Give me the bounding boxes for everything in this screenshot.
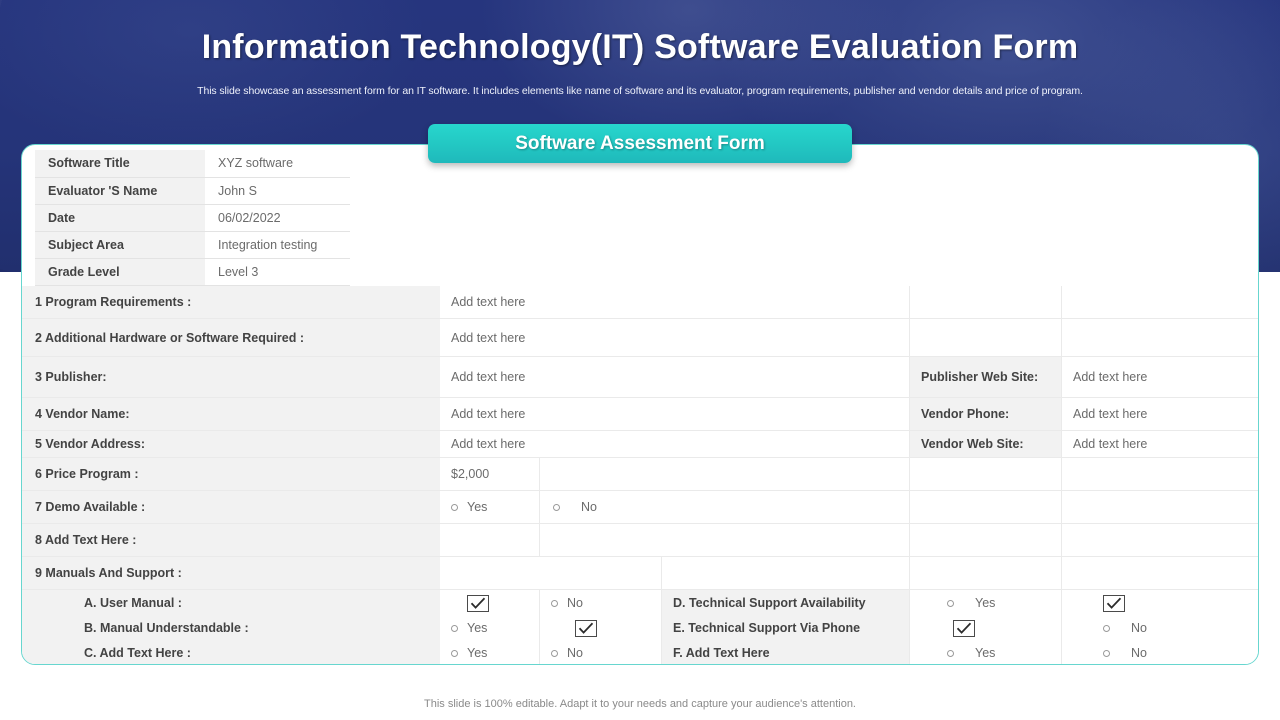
- radio-icon[interactable]: [551, 600, 558, 607]
- radio-icon[interactable]: [947, 650, 954, 657]
- table-row: Subject Area Integration testing: [35, 231, 350, 258]
- row-right-label-empty: [910, 458, 1062, 491]
- info-value[interactable]: XYZ software: [205, 150, 350, 177]
- row-right-value-vendor-phone[interactable]: Add text here: [1062, 398, 1259, 431]
- table-row: A. User Manual : No D. Technical Support…: [22, 590, 1259, 615]
- row-right-label-empty: [910, 319, 1062, 357]
- table-row: C. Add Text Here : Yes No F. Add Text He…: [22, 640, 1259, 665]
- option-label-yes: Yes: [467, 500, 487, 514]
- row-right-value-empty: [1062, 524, 1259, 557]
- row-value-additional-hardware[interactable]: Add text here: [440, 319, 910, 357]
- info-key: Date: [35, 204, 205, 231]
- manual-understandable-no-option[interactable]: [540, 615, 662, 642]
- option-label-yes: Yes: [467, 646, 487, 660]
- option-label-yes: Yes: [963, 646, 995, 660]
- checkbox-checked-icon[interactable]: [467, 595, 489, 612]
- banner-label: Software Assessment Form: [515, 133, 765, 155]
- table-row: Date 06/02/2022: [35, 204, 350, 231]
- row-right-label-empty: [910, 286, 1062, 319]
- info-key: Software Title: [35, 150, 205, 177]
- row-9-cell-c: [662, 557, 910, 590]
- form-card: Software Title XYZ software Evaluator 'S…: [21, 144, 1259, 665]
- row-right-label-vendor-phone: Vendor Phone:: [910, 398, 1062, 431]
- option-label-no: No: [1119, 621, 1147, 635]
- row-right-value-empty: [1062, 286, 1259, 319]
- option-label-no: No: [567, 596, 583, 610]
- row-c-no-option[interactable]: No: [540, 640, 662, 665]
- option-label-no: No: [567, 646, 583, 660]
- tech-support-availability-no-option[interactable]: [1062, 590, 1259, 617]
- manual-understandable-yes-option[interactable]: Yes: [440, 615, 540, 642]
- info-value[interactable]: 06/02/2022: [205, 204, 350, 231]
- info-key: Grade Level: [35, 258, 205, 285]
- row-right-value-vendor-web-site[interactable]: Add text here: [1062, 431, 1259, 458]
- row-label-add-text-here-c: C. Add Text Here :: [22, 640, 440, 665]
- row-label-demo-available: 7 Demo Available :: [22, 491, 440, 524]
- row-label-publisher: 3 Publisher:: [22, 357, 440, 398]
- software-info-table: Software Title XYZ software Evaluator 'S…: [35, 150, 350, 286]
- row-label-add-text-here-f: F. Add Text Here: [662, 640, 910, 665]
- row-value-vendor-name[interactable]: Add text here: [440, 398, 910, 431]
- row-label-additional-hardware: 2 Additional Hardware or Software Requir…: [22, 319, 440, 357]
- table-row: 2 Additional Hardware or Software Requir…: [22, 319, 1259, 357]
- row-label-add-text-here-8: 8 Add Text Here :: [22, 524, 440, 557]
- row-8-cell-a[interactable]: [440, 524, 540, 557]
- row-right-value-empty: [1062, 458, 1259, 491]
- row-right-value-empty: [1062, 491, 1259, 524]
- table-row: 9 Manuals And Support :: [22, 557, 1259, 590]
- row-8-cell-b[interactable]: [540, 524, 910, 557]
- checkbox-checked-icon[interactable]: [953, 620, 975, 637]
- row-9-cell-d: [910, 557, 1062, 590]
- demo-available-no-option[interactable]: No: [540, 491, 910, 524]
- row-label-program-requirements: 1 Program Requirements :: [22, 286, 440, 319]
- table-row: Grade Level Level 3: [35, 258, 350, 285]
- row-f-yes-option[interactable]: Yes: [910, 640, 1062, 665]
- row-right-label-vendor-web-site: Vendor Web Site:: [910, 431, 1062, 458]
- option-label-no: No: [569, 500, 597, 514]
- row-c-yes-option[interactable]: Yes: [440, 640, 540, 665]
- checkbox-checked-icon[interactable]: [1103, 595, 1125, 612]
- radio-icon[interactable]: [551, 650, 558, 657]
- info-key: Evaluator 'S Name: [35, 177, 205, 204]
- row-label-manual-understandable: B. Manual Understandable :: [22, 615, 440, 642]
- table-row: 3 Publisher: Add text here Publisher Web…: [22, 357, 1259, 398]
- page-title: Information Technology(IT) Software Eval…: [0, 28, 1280, 67]
- row-f-no-option[interactable]: No: [1062, 640, 1259, 665]
- table-row: Evaluator 'S Name John S: [35, 177, 350, 204]
- info-value[interactable]: Integration testing: [205, 231, 350, 258]
- row-right-label-empty: [910, 491, 1062, 524]
- row-value-vendor-address[interactable]: Add text here: [440, 431, 910, 458]
- table-row: 7 Demo Available : Yes No: [22, 491, 1259, 524]
- table-row: Software Title XYZ software: [35, 150, 350, 177]
- table-row: 8 Add Text Here :: [22, 524, 1259, 557]
- row-label-manuals-and-support: 9 Manuals And Support :: [22, 557, 440, 590]
- option-label-yes: Yes: [963, 596, 995, 610]
- tech-support-via-phone-yes-option[interactable]: [910, 615, 1062, 642]
- demo-available-yes-option[interactable]: Yes: [440, 491, 540, 524]
- radio-icon[interactable]: [451, 650, 458, 657]
- radio-icon[interactable]: [947, 600, 954, 607]
- page-subtitle: This slide showcase an assessment form f…: [0, 85, 1280, 97]
- row-value-price-program[interactable]: $2,000: [440, 458, 540, 491]
- info-value[interactable]: John S: [205, 177, 350, 204]
- row-label-technical-support-via-phone: E. Technical Support Via Phone: [662, 615, 910, 642]
- user-manual-yes-option[interactable]: [440, 590, 540, 617]
- table-row: 5 Vendor Address: Add text here Vendor W…: [22, 431, 1259, 458]
- row-right-label-empty: [910, 524, 1062, 557]
- option-label-yes: Yes: [467, 621, 487, 635]
- row-right-value-empty: [1062, 319, 1259, 357]
- price-row-filler: [540, 458, 910, 491]
- option-label-no: No: [1119, 646, 1147, 660]
- radio-icon[interactable]: [451, 504, 458, 511]
- tech-support-availability-yes-option[interactable]: Yes: [910, 590, 1062, 617]
- user-manual-no-option[interactable]: No: [540, 590, 662, 617]
- radio-icon[interactable]: [451, 625, 458, 632]
- slide: Information Technology(IT) Software Eval…: [0, 0, 1280, 720]
- info-value[interactable]: Level 3: [205, 258, 350, 285]
- evaluation-grid: 1 Program Requirements : Add text here 2…: [22, 286, 1259, 665]
- row-label-price-program: 6 Price Program :: [22, 458, 440, 491]
- row-label-technical-support-availability: D. Technical Support Availability: [662, 590, 910, 617]
- footer-note: This slide is 100% editable. Adapt it to…: [0, 698, 1280, 710]
- table-row: 1 Program Requirements : Add text here: [22, 286, 1259, 319]
- table-row: 6 Price Program : $2,000: [22, 458, 1259, 491]
- tech-support-via-phone-no-option[interactable]: No: [1062, 615, 1259, 642]
- row-label-vendor-name: 4 Vendor Name:: [22, 398, 440, 431]
- software-assessment-form-banner: Software Assessment Form: [428, 124, 852, 163]
- radio-icon[interactable]: [1103, 650, 1110, 657]
- table-row: 4 Vendor Name: Add text here Vendor Phon…: [22, 398, 1259, 431]
- checkbox-checked-icon[interactable]: [575, 620, 597, 637]
- row-9-cell-ab: [440, 557, 662, 590]
- row-9-cell-e: [1062, 557, 1259, 590]
- row-value-program-requirements[interactable]: Add text here: [440, 286, 910, 319]
- row-label-vendor-address: 5 Vendor Address:: [22, 431, 440, 458]
- table-row: B. Manual Understandable : Yes E. Techni…: [22, 615, 1259, 640]
- info-key: Subject Area: [35, 231, 205, 258]
- row-right-value-publisher-web-site[interactable]: Add text here: [1062, 357, 1259, 398]
- radio-icon[interactable]: [553, 504, 560, 511]
- radio-icon[interactable]: [1103, 625, 1110, 632]
- row-right-label-publisher-web-site: Publisher Web Site:: [910, 357, 1062, 398]
- row-value-publisher[interactable]: Add text here: [440, 357, 910, 398]
- row-label-user-manual: A. User Manual :: [22, 590, 440, 617]
